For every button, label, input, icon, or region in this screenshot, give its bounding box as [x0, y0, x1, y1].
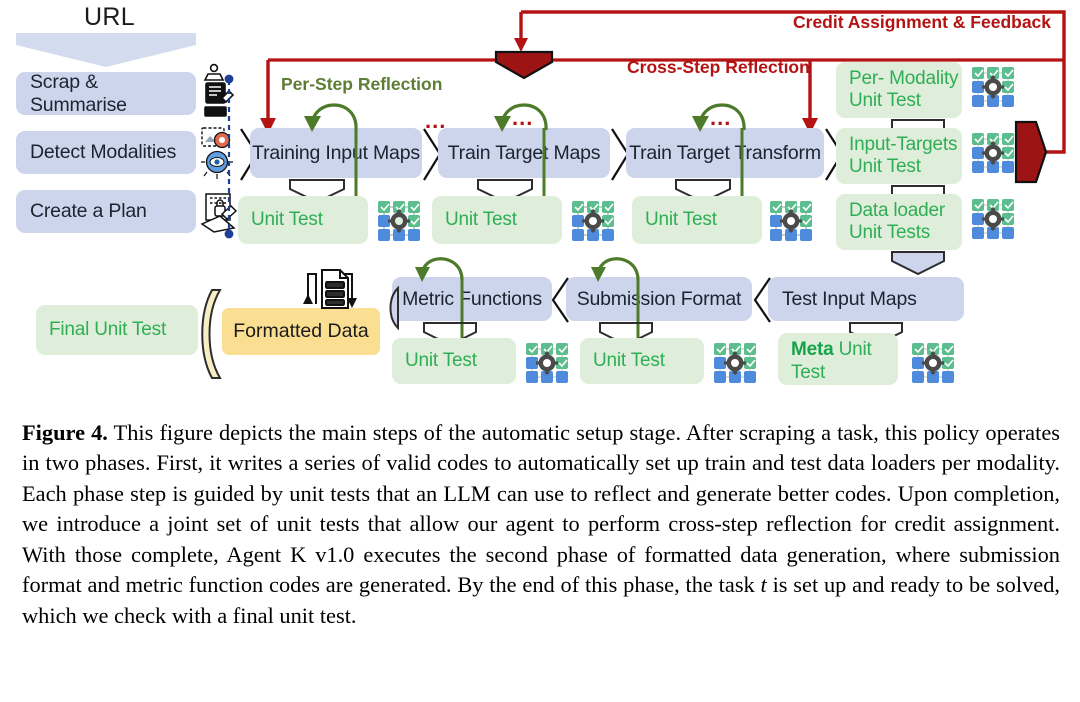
document-refresh-icon — [296, 258, 364, 312]
chevron-left-cream-icon — [196, 288, 224, 380]
caption-text: This figure depicts the main steps of th… — [22, 420, 1060, 597]
meta-unit-test-label: Meta Unit Test — [791, 339, 898, 385]
formatted-data-label: Formatted Data — [233, 320, 368, 343]
figure-diagram: URL Scrap & Summarise Detect Modalities … — [0, 0, 1080, 405]
unit-test-label: Unit Test — [593, 350, 665, 372]
unit-test-grid-gear-icon — [908, 340, 958, 386]
unit-test-label: Unit Test — [405, 350, 477, 372]
figure-caption: Figure 4. This figure depicts the main s… — [22, 418, 1060, 631]
chevron-left-blue-icon — [378, 286, 402, 330]
bottom-unit-test-meta[interactable]: Meta Unit Test — [778, 333, 898, 385]
figure-label: Figure 4. — [22, 420, 108, 445]
unit-test-grid-gear-icon — [522, 340, 572, 386]
meta-strong: Meta — [791, 339, 834, 360]
bottom-unit-test-submission[interactable]: Unit Test — [580, 338, 704, 384]
final-unit-test-box[interactable]: Final Unit Test — [36, 305, 198, 355]
bottom-unit-test-metric[interactable]: Unit Test — [392, 338, 516, 384]
final-unit-test-label: Final Unit Test — [49, 319, 166, 341]
formatted-data-box[interactable]: Formatted Data — [222, 308, 380, 355]
unit-test-grid-gear-icon — [710, 340, 760, 386]
